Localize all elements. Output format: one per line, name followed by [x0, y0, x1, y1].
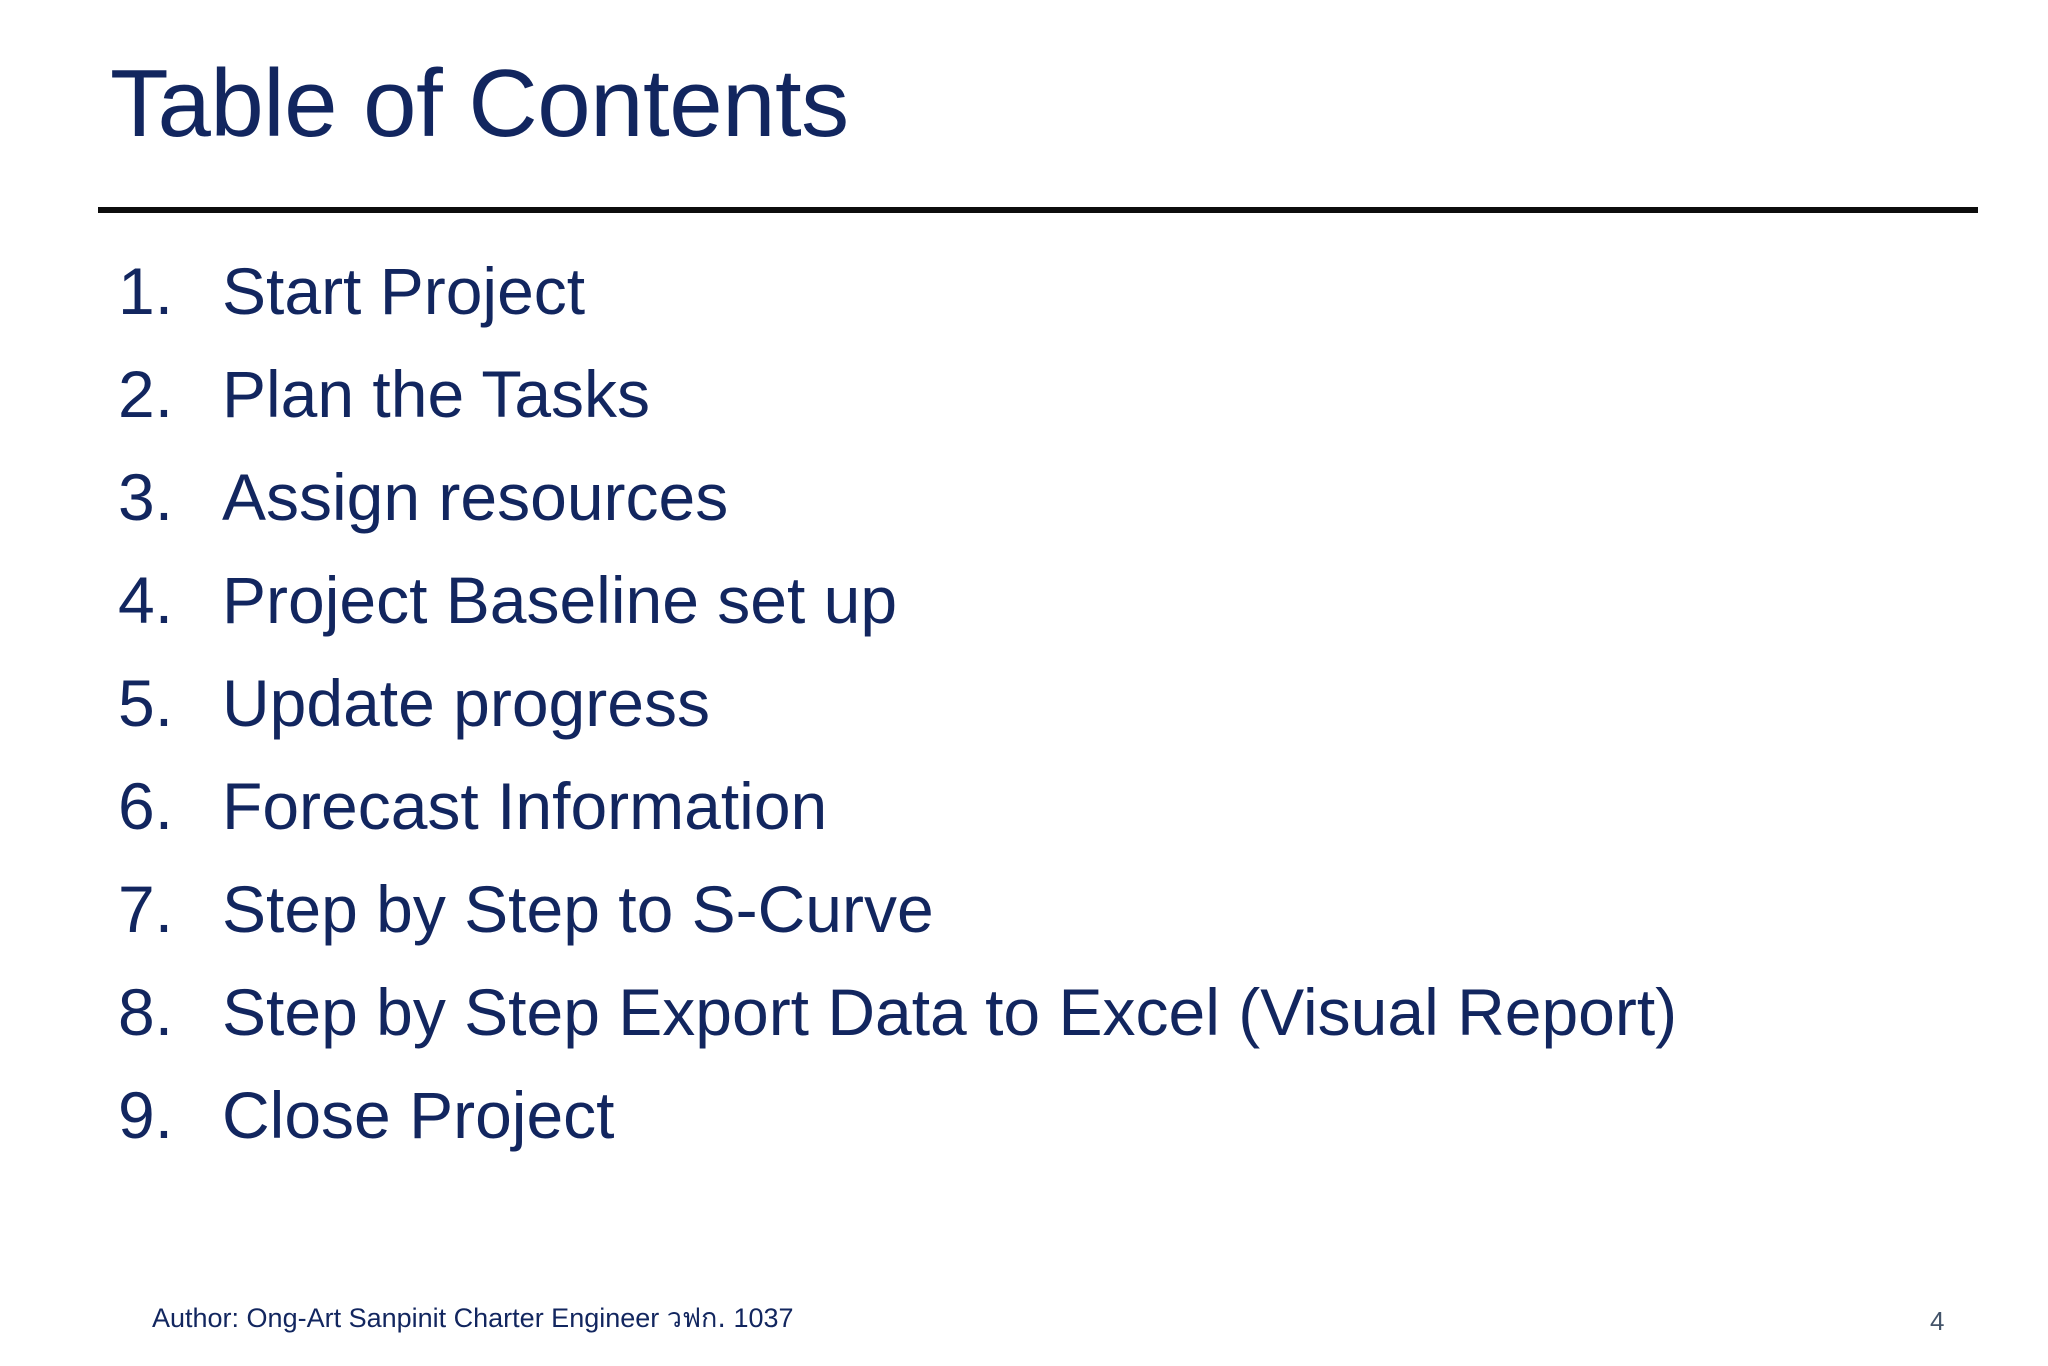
slide-canvas: Table of Contents 1. Start Project 2. Pl…	[0, 0, 2048, 1366]
page-title: Table of Contents	[110, 54, 1910, 155]
footer-credential-number: 1037	[726, 1303, 794, 1333]
list-item[interactable]: 8. Step by Step Export Data to Excel (Vi…	[118, 961, 1998, 1064]
footer-credential-thai: วฟก.	[667, 1303, 726, 1334]
list-item-label: Assign resources	[222, 446, 728, 549]
title-divider	[98, 207, 1978, 213]
list-item-label: Project Baseline set up	[222, 549, 897, 652]
footer-author-text: Author: Ong-Art Sanpinit Charter Enginee…	[152, 1303, 667, 1333]
list-item[interactable]: 9. Close Project	[118, 1064, 1998, 1167]
list-item-number: 6.	[118, 755, 222, 858]
list-item[interactable]: 7. Step by Step to S-Curve	[118, 858, 1998, 961]
list-item-label: Step by Step to S-Curve	[222, 858, 934, 961]
list-item-number: 9.	[118, 1064, 222, 1167]
list-item-label: Forecast Information	[222, 755, 827, 858]
list-item-number: 1.	[118, 240, 222, 343]
list-item[interactable]: 5. Update progress	[118, 652, 1998, 755]
list-item-number: 4.	[118, 549, 222, 652]
footer-author-credit: Author: Ong-Art Sanpinit Charter Enginee…	[152, 1296, 794, 1339]
list-item[interactable]: 2. Plan the Tasks	[118, 343, 1998, 446]
table-of-contents-list: 1. Start Project 2. Plan the Tasks 3. As…	[118, 240, 1998, 1167]
list-item-number: 7.	[118, 858, 222, 961]
list-item[interactable]: 6. Forecast Information	[118, 755, 1998, 858]
page-number: 4	[1930, 1306, 1970, 1337]
list-item-label: Close Project	[222, 1064, 615, 1167]
list-item-number: 3.	[118, 446, 222, 549]
list-item-number: 5.	[118, 652, 222, 755]
list-item-label: Plan the Tasks	[222, 343, 650, 446]
list-item[interactable]: 1. Start Project	[118, 240, 1998, 343]
list-item-number: 8.	[118, 961, 222, 1064]
list-item-label: Start Project	[222, 240, 585, 343]
list-item-label: Step by Step Export Data to Excel (Visua…	[222, 961, 1677, 1064]
list-item-number: 2.	[118, 343, 222, 446]
list-item-label: Update progress	[222, 652, 710, 755]
list-item[interactable]: 3. Assign resources	[118, 446, 1998, 549]
list-item[interactable]: 4. Project Baseline set up	[118, 549, 1998, 652]
